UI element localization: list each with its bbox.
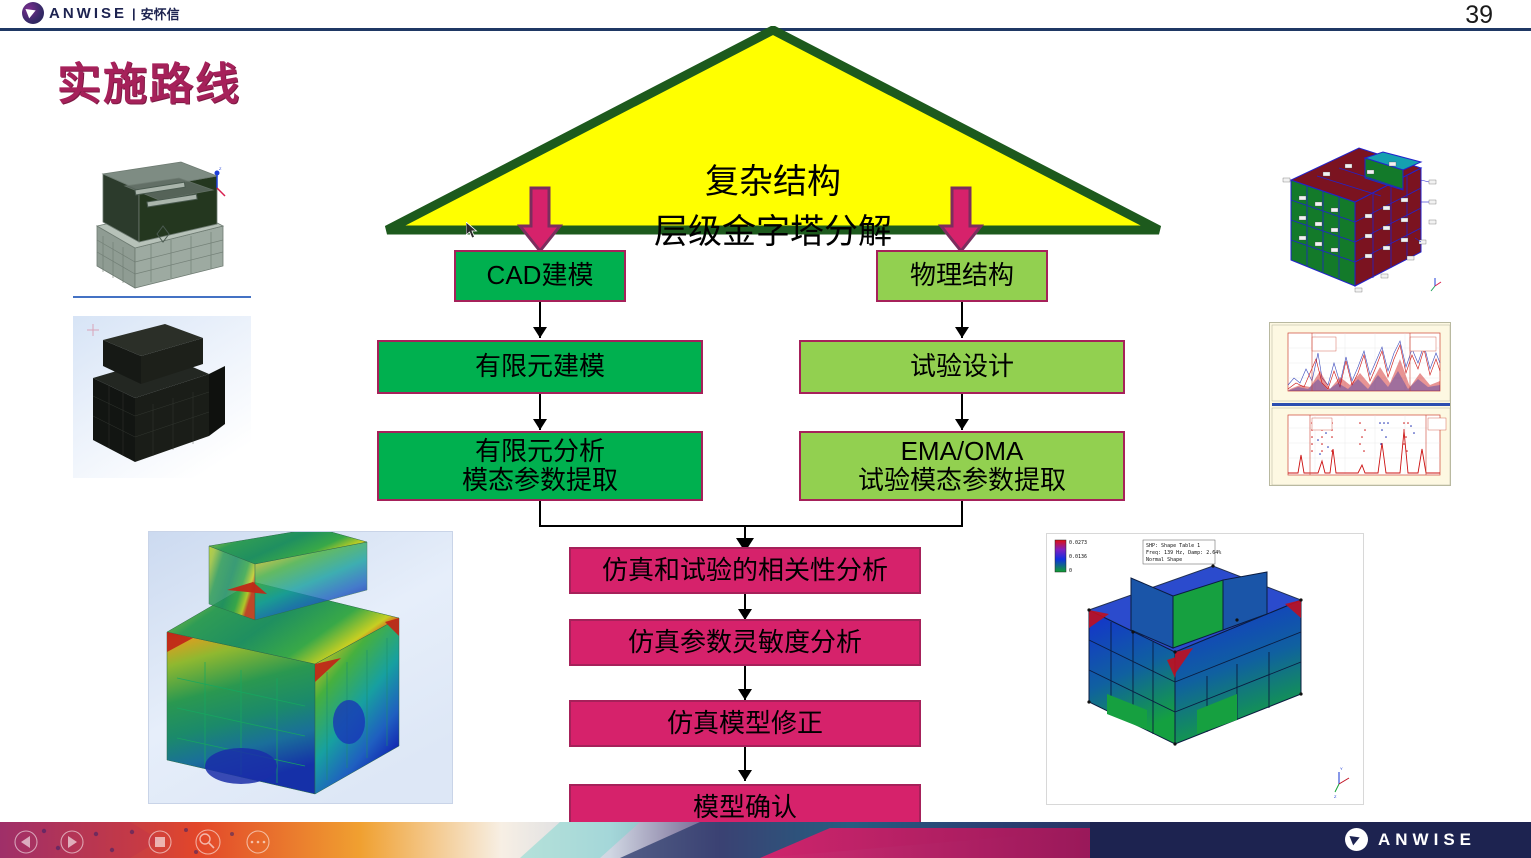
footer-brand-logo: ANWISE: [1345, 828, 1476, 851]
legend-min-value: 0: [1069, 568, 1072, 574]
flow-box-ema-oma[interactable]: EMA/OMA 试验模态参数提取: [799, 431, 1125, 501]
experimental-mode-shape-plot-image: 0.0273 0.0136 0 SHP: Shape Table 1 Freq:…: [1046, 533, 1364, 805]
flow-box-label-2: 模态参数提取: [462, 466, 618, 495]
legend-mid-value: 0.0136: [1069, 554, 1087, 560]
pyramid-line-1: 复杂结构: [383, 154, 1163, 203]
slide-header: ANWISE | 安怀信 39: [0, 0, 1531, 29]
brand-logo: ANWISE | 安怀信: [22, 2, 180, 24]
arrowhead-left-1: [533, 327, 547, 338]
slide-footer: ANWISE: [0, 822, 1531, 858]
page-number: 39: [1465, 1, 1493, 30]
flow-box-test-design[interactable]: 试验设计: [799, 340, 1125, 394]
cad-assembly-model-image: Z: [73, 130, 251, 298]
flow-box-label-2: 试验模态参数提取: [858, 466, 1066, 495]
anwise-comet-logo-icon: [1345, 828, 1368, 851]
slide-canvas: ANWISE | 安怀信 39 实施路线 复杂结构 层级金字塔分解 CAD建模 …: [0, 0, 1531, 858]
brand-separator: |: [132, 6, 136, 21]
flow-box-label: 有限元建模: [475, 352, 605, 381]
flow-box-label: CAD建模: [487, 261, 594, 290]
flow-box-cad-modeling[interactable]: CAD建模: [454, 250, 626, 302]
flow-box-label: 仿真参数灵敏度分析: [628, 628, 862, 657]
arrowhead-left-2: [533, 419, 547, 430]
arrowhead-bottom-2: [738, 689, 752, 700]
svg-text:Freq: 139 Hz, Damp: 2.64%: Freq: 139 Hz, Damp: 2.64%: [1146, 550, 1221, 556]
page-title: 实施路线: [57, 48, 241, 112]
merge-stub-left: [539, 501, 541, 527]
flow-box-label: 物理结构: [910, 261, 1014, 290]
frf-stability-diagram-plots-image: [1269, 322, 1451, 486]
flow-box-model-updating[interactable]: 仿真模型修正: [569, 700, 921, 747]
svg-text:SHP: Shape Table 1: SHP: Shape Table 1: [1146, 543, 1200, 549]
pyramid-line-2: 层级金字塔分解: [383, 204, 1163, 253]
flow-box-label: EMA/OMA: [901, 437, 1024, 466]
down-block-arrow-to-cad: [517, 186, 563, 254]
arrowhead-right-1: [955, 327, 969, 338]
anwise-comet-logo-icon: [22, 2, 44, 24]
flow-box-label: 仿真和试验的相关性分析: [602, 556, 888, 585]
finite-element-mesh-model-image: [73, 316, 251, 478]
flow-box-fe-analysis[interactable]: 有限元分析 模态参数提取: [377, 431, 703, 501]
test-sensor-layout-geometry-image: [1269, 134, 1449, 299]
footer-decoration: [0, 822, 1090, 858]
legend-max-value: 0.0273: [1069, 540, 1087, 546]
flow-box-fe-modeling[interactable]: 有限元建模: [377, 340, 703, 394]
brand-name: ANWISE: [49, 5, 127, 22]
flow-box-label: 试验设计: [910, 352, 1014, 381]
fea-modal-contour-plot-image: [148, 531, 453, 804]
svg-text:Normal Shape: Normal Shape: [1146, 557, 1182, 563]
pyramid-shape: 复杂结构 层级金字塔分解: [383, 26, 1163, 236]
flow-box-label: 模型确认: [693, 793, 797, 822]
svg-text:Y: Y: [1340, 766, 1343, 771]
down-block-arrow-to-physical: [938, 186, 984, 254]
flow-box-label: 有限元分析: [475, 437, 605, 466]
brand-name-cn: 安怀信: [141, 4, 180, 23]
merge-bar: [539, 525, 963, 527]
arrowhead-bottom-3: [738, 770, 752, 781]
mouse-cursor-icon: [466, 222, 480, 240]
merge-stub-right: [961, 501, 963, 527]
flow-box-label: 仿真模型修正: [667, 709, 823, 738]
flow-box-physical-structure[interactable]: 物理结构: [876, 250, 1048, 302]
flow-box-correlation-analysis[interactable]: 仿真和试验的相关性分析: [569, 547, 921, 594]
footer-brand-name: ANWISE: [1378, 830, 1476, 850]
arrowhead-right-2: [955, 419, 969, 430]
flow-box-sensitivity-analysis[interactable]: 仿真参数灵敏度分析: [569, 619, 921, 666]
